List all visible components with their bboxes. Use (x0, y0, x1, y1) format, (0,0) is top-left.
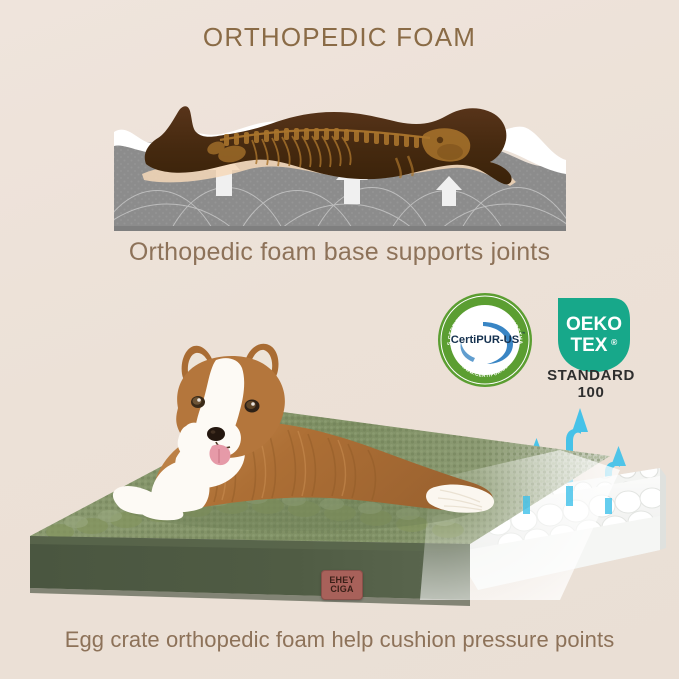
brand-tag: EHEY CIGA (321, 570, 363, 600)
brand-tag-line2: CIGA (330, 585, 353, 594)
infographic-page: ORTHOPEDIC FOAM (0, 0, 679, 679)
diagram-caption: Orthopedic foam base supports joints (0, 238, 679, 267)
product-caption: Egg crate orthopedic foam help cushion p… (0, 627, 679, 653)
foam-cross-section-diagram (112, 78, 568, 236)
page-title: ORTHOPEDIC FOAM (0, 22, 679, 53)
